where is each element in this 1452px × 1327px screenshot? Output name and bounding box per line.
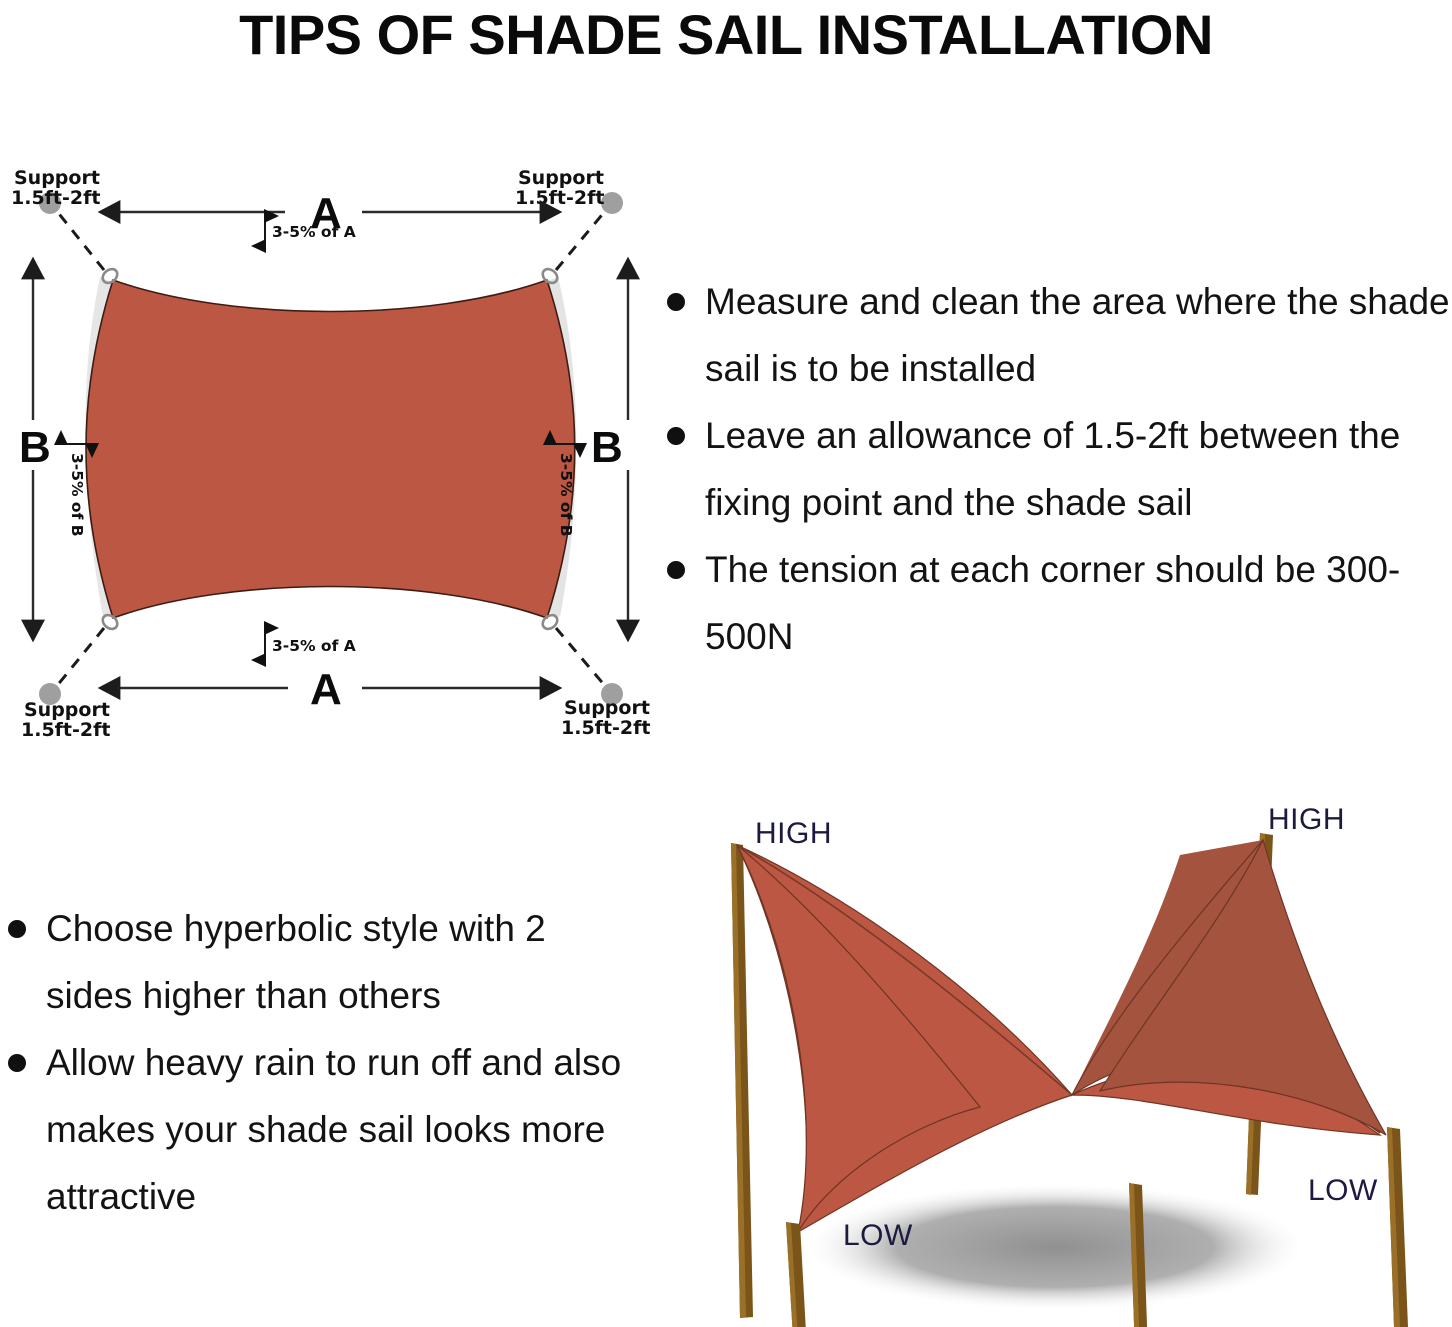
curvature-label-right: 3-5% of B [557,453,575,537]
dimension-label-A-bottom: A [310,665,342,714]
corner-label-high-right: HIGH [1268,803,1345,836]
support-line-bottom-right [556,628,606,687]
tips-list: Measure and clean the area where the sha… [645,268,1452,670]
hyperbolic-sail-diagram: HIGH HIGH LOW LOW [680,795,1452,1327]
corner-label-low-right: LOW [1308,1174,1378,1207]
tips-list-item: Leave an allowance of 1.5-2ft between th… [645,402,1452,536]
rectangular-sail-diagram: Support 1.5ft-2ft Support 1.5ft-2ft Supp… [0,170,660,730]
support-label-bottom-right-line2: 1.5ft-2ft [561,717,650,739]
tips-list-item-text: Measure and clean the area where the sha… [705,281,1450,389]
hyperbolic-notes-item-text: Choose hyperbolic style with 2 sides hig… [46,908,546,1016]
support-label-top-right-line1: Support [518,167,604,189]
tips-list-item: Measure and clean the area where the sha… [645,268,1452,402]
support-label-top-right-line2: 1.5ft-2ft [515,187,604,209]
dimension-label-B-right: B [591,423,623,472]
hyperbolic-notes-item: Allow heavy rain to run off and also mak… [0,1029,630,1230]
curvature-label-top: 3-5% of A [272,223,356,241]
support-line-top-left [56,210,104,270]
tips-list-item-text: Leave an allowance of 1.5-2ft between th… [705,415,1400,523]
bullet-icon [667,293,685,311]
support-label-top-left-line2: 1.5ft-2ft [11,187,100,209]
hyperbolic-notes-item-text: Allow heavy rain to run off and also mak… [46,1042,621,1217]
tips-list-item: The tension at each corner should be 300… [645,536,1452,670]
post-back-left-high [731,843,753,1318]
dimension-label-B-left: B [19,423,51,472]
page-title: TIPS OF SHADE SAIL INSTALLATION [0,2,1452,67]
support-line-top-right [556,210,606,270]
bullet-icon [667,427,685,445]
hyperbolic-notes-list: Choose hyperbolic style with 2 sides hig… [0,895,630,1230]
hyperbolic-style-notes-list: Choose hyperbolic style with 2 sides hig… [0,895,630,1225]
tips-list-item-text: The tension at each corner should be 300… [705,549,1400,657]
support-line-bottom-left [56,628,104,687]
support-label-top-left-line1: Support [14,167,100,189]
post-front-right-low [1387,1127,1408,1327]
curvature-label-bottom: 3-5% of A [272,637,356,655]
bullet-icon [667,561,685,579]
support-label-bottom-left-line1: Support [24,699,110,721]
bullet-icon [8,920,26,938]
corner-label-low-left: LOW [843,1219,913,1252]
shade-sail-shape [86,280,575,618]
installation-tips-list: Measure and clean the area where the sha… [645,268,1452,668]
support-label-bottom-right-line1: Support [564,697,650,719]
support-label-bottom-left-line2: 1.5ft-2ft [21,719,110,741]
curvature-label-left: 3-5% of B [68,453,86,537]
corner-label-high-left: HIGH [755,817,832,850]
bullet-icon [8,1054,26,1072]
hyperbolic-notes-item: Choose hyperbolic style with 2 sides hig… [0,895,630,1029]
